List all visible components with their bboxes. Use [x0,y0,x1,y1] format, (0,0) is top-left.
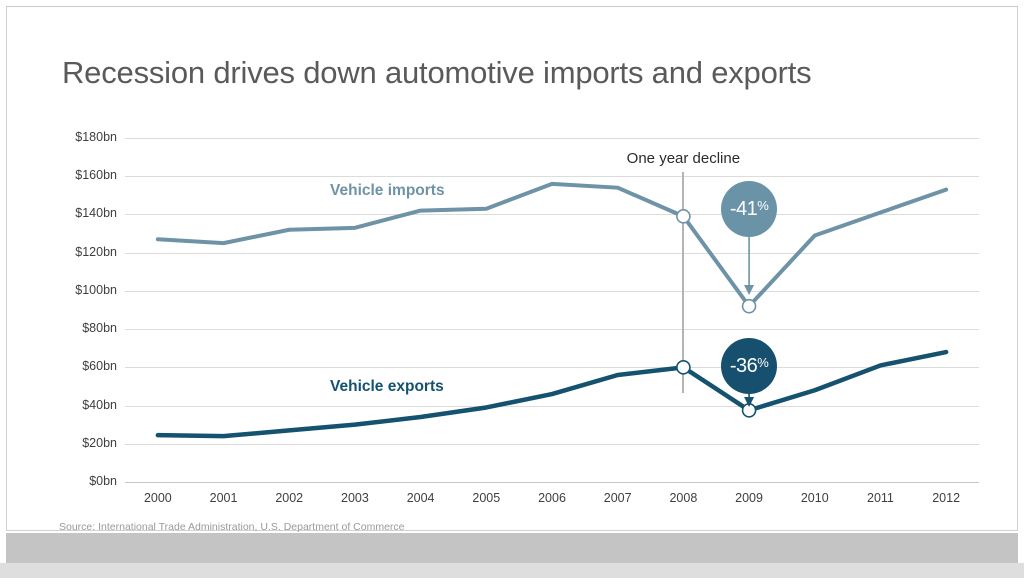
gridline-100 [125,291,979,292]
badge-imports-value: -41 [730,198,757,221]
y-axis-label-180: $180bn [51,130,117,144]
reference-line-2008 [682,172,684,393]
x-axis-label-2011: 2011 [845,491,915,505]
x-axis-label-2005: 2005 [451,491,521,505]
slide-canvas: Recession drives down automotive imports… [6,6,1018,531]
y-axis-label-140: $140bn [51,206,117,220]
y-axis-label-60: $60bn [51,359,117,373]
gridline-160 [125,176,979,177]
y-axis-label-20: $20bn [51,436,117,450]
y-axis-label-0: $0bn [51,474,117,488]
x-axis-label-2008: 2008 [648,491,718,505]
gridline-80 [125,329,979,330]
x-axis-label-2006: 2006 [517,491,587,505]
x-axis-label-2004: 2004 [386,491,456,505]
y-axis-label-160: $160bn [51,168,117,182]
badge-imports-percent-sign: % [757,198,768,213]
badge-imports-decline: -41% [721,181,777,237]
x-axis-label-2012: 2012 [911,491,981,505]
slide-bottom-bar [6,533,1018,563]
gridline-180 [125,138,979,139]
series-label-vehicle-imports: Vehicle imports [330,182,445,200]
series-label-vehicle-exports: Vehicle exports [330,378,444,396]
annotation-headline: One year decline [627,150,740,167]
x-axis-label-2002: 2002 [254,491,324,505]
gridline-60 [125,367,979,368]
y-axis-label-120: $120bn [51,245,117,259]
x-axis-label-2009: 2009 [714,491,784,505]
x-axis-label-2001: 2001 [189,491,259,505]
source-note: Source: International Trade Administrati… [59,521,405,533]
slide-frame: Recession drives down automotive imports… [0,0,1024,578]
chart-plot-area: $0bn$20bn$40bn$60bn$80bn$100bn$120bn$140… [125,138,979,482]
page-title: Recession drives down automotive imports… [62,55,982,91]
y-axis-label-80: $80bn [51,321,117,335]
gridline-120 [125,253,979,254]
badge-exports-value: -36 [730,355,757,378]
y-axis-label-40: $40bn [51,398,117,412]
x-axis-label-2010: 2010 [780,491,850,505]
badge-exports-decline: -36% [721,338,777,394]
badge-exports-percent-sign: % [757,355,768,370]
gridline-40 [125,406,979,407]
x-axis-label-2000: 2000 [123,491,193,505]
gridline-20 [125,444,979,445]
x-axis-label-2007: 2007 [583,491,653,505]
gridline-0 [125,482,979,483]
y-axis-label-100: $100bn [51,283,117,297]
gridline-140 [125,214,979,215]
window-bottom-strip [0,563,1024,578]
x-axis-label-2003: 2003 [320,491,390,505]
